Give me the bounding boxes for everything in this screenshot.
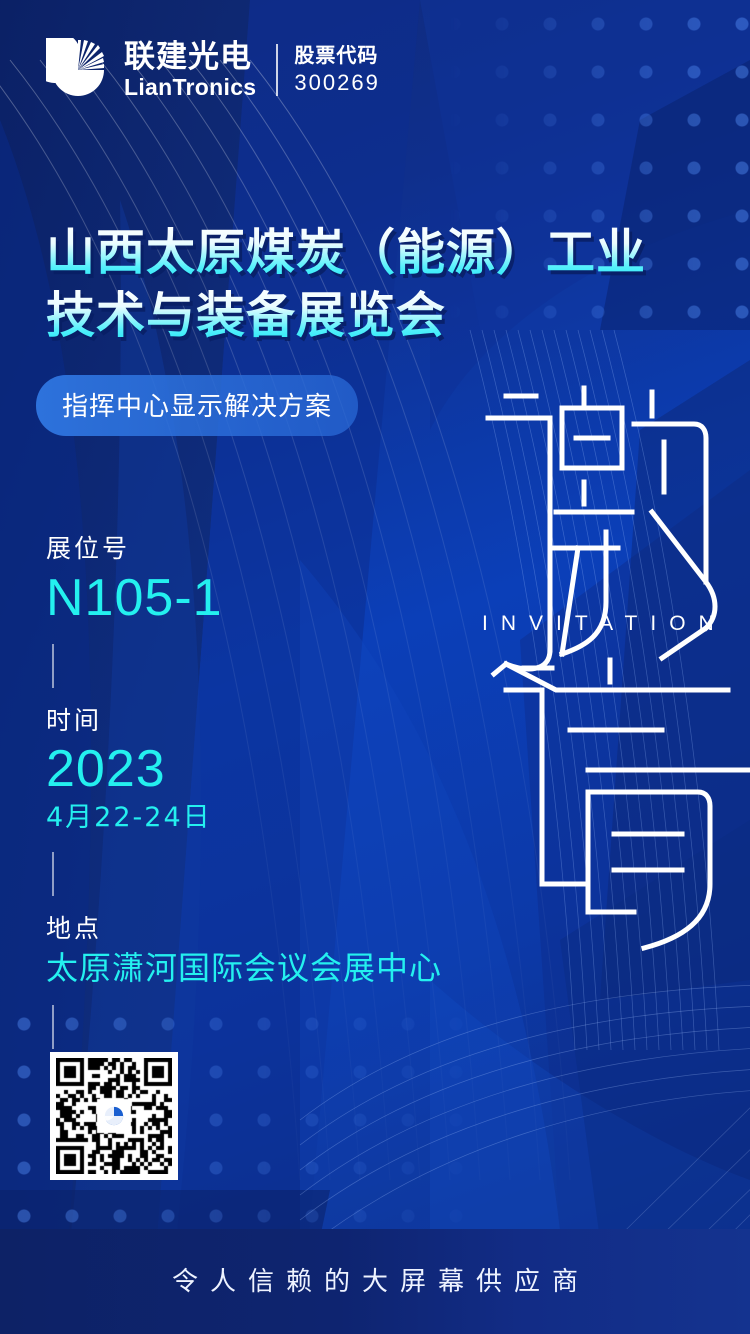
footer-slogan: 令人信赖的大屏幕供应商 xyxy=(0,1261,750,1298)
time-block: 时间 2023 4月22-24日 xyxy=(46,702,476,836)
header-divider xyxy=(276,44,278,96)
stock-code: 300269 xyxy=(294,69,379,97)
page-title: 山西太原煤炭（能源）工业 技术与装备展览会 xyxy=(46,222,666,347)
booth-value: N105-1 xyxy=(46,568,476,628)
place-value: 太原潇河国际会议会展中心 xyxy=(46,948,476,990)
invitation-poster: 联建光电 LianTronics 股票代码 300269 山西太原煤炭（能源）工… xyxy=(0,0,750,1334)
qr-center-logo-icon xyxy=(99,1101,129,1131)
time-label: 时间 xyxy=(46,702,476,740)
event-info: 展位号 N105-1 时间 2023 4月22-24日 地点 太原潇河国际会议会… xyxy=(46,530,476,1063)
time-year: 2023 xyxy=(46,739,476,799)
brand-name-block: 联建光电 LianTronics xyxy=(124,40,256,100)
info-divider-2 xyxy=(52,852,54,896)
subtitle-pill: 指挥中心显示解决方案 xyxy=(36,375,358,436)
place-label: 地点 xyxy=(46,910,476,948)
qr-matrix xyxy=(56,1058,172,1174)
title-line-1: 山西太原煤炭（能源）工业 xyxy=(46,222,666,285)
qr-code[interactable] xyxy=(50,1052,178,1180)
invitation-latin-label: INVITATION xyxy=(482,612,727,636)
place-block: 地点 太原潇河国际会议会展中心 xyxy=(46,910,476,989)
title-line-2: 技术与装备展览会 xyxy=(46,285,666,348)
booth-label: 展位号 xyxy=(46,530,476,568)
info-divider-3 xyxy=(52,1005,54,1049)
char-yao-strokes xyxy=(488,388,728,690)
brand-name-en: LianTronics xyxy=(124,75,256,100)
info-divider-1 xyxy=(52,644,54,688)
invitation-characters-art xyxy=(466,372,750,952)
stock-info: 股票代码 300269 xyxy=(294,44,379,97)
time-dates: 4月22-24日 xyxy=(46,800,476,836)
liantronics-fan-logo-icon xyxy=(46,38,110,102)
booth-block: 展位号 N105-1 xyxy=(46,530,476,628)
brand-name-cn: 联建光电 xyxy=(124,40,256,73)
brand-header: 联建光电 LianTronics 股票代码 300269 xyxy=(46,38,380,102)
stock-label: 股票代码 xyxy=(294,44,379,69)
char-qing-strokes xyxy=(506,660,750,948)
